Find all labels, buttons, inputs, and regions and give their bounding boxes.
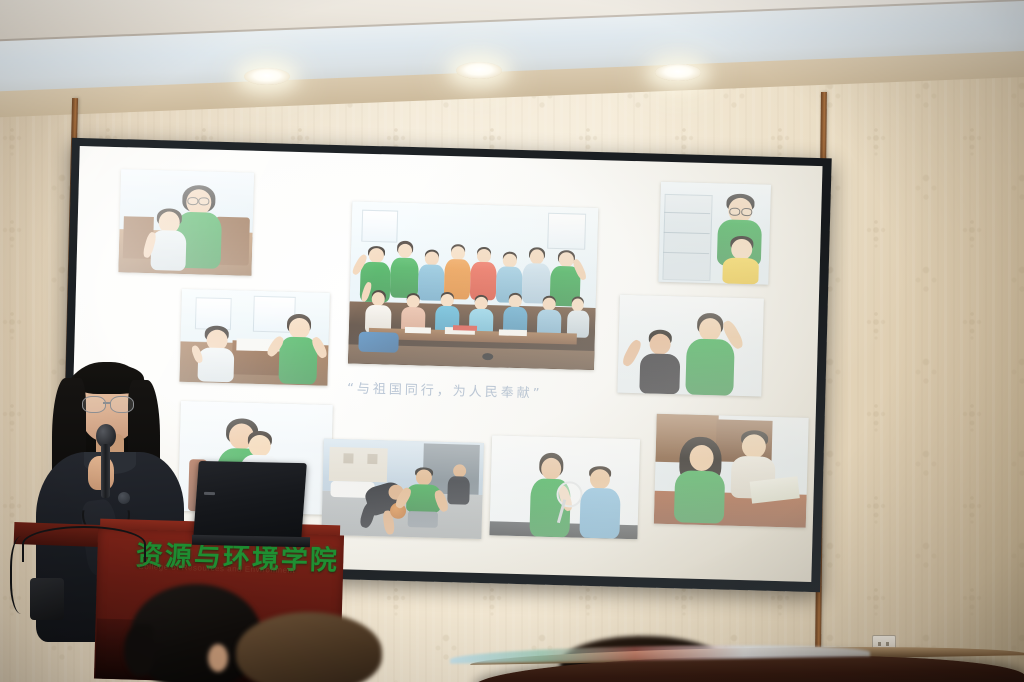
audience-member-2: [236, 612, 386, 682]
presenter-glasses-left-lens: [82, 396, 106, 413]
recessed-downlight-icon: [456, 62, 502, 79]
slide-photo-mid-right: [617, 295, 764, 397]
slide-photo-bottom-right: [654, 414, 809, 528]
audience-head: [236, 612, 382, 682]
presentation-room-photo: “与祖国同行，为人民奉献”: [0, 0, 1024, 682]
podium-cable-1: [22, 526, 146, 562]
recessed-downlight-icon: [244, 68, 290, 85]
presenter-glasses-right-lens: [110, 396, 134, 413]
podium-equipment-box: [30, 578, 64, 620]
laptop-screen-back[interactable]: [193, 461, 307, 541]
slide-photo-bottom-badminton: [489, 435, 640, 539]
slide-photo-top-left: [118, 169, 254, 276]
microphone-body: [101, 444, 110, 498]
slide-photo-center-group: [348, 201, 598, 370]
laptop-logo-icon: [204, 492, 215, 495]
slide-photo-top-right: [658, 182, 771, 285]
audience-hair-tie: [124, 624, 154, 676]
audience-ear: [208, 644, 228, 672]
presenter-glasses-bridge: [103, 402, 111, 404]
recessed-downlight-icon: [655, 64, 701, 81]
